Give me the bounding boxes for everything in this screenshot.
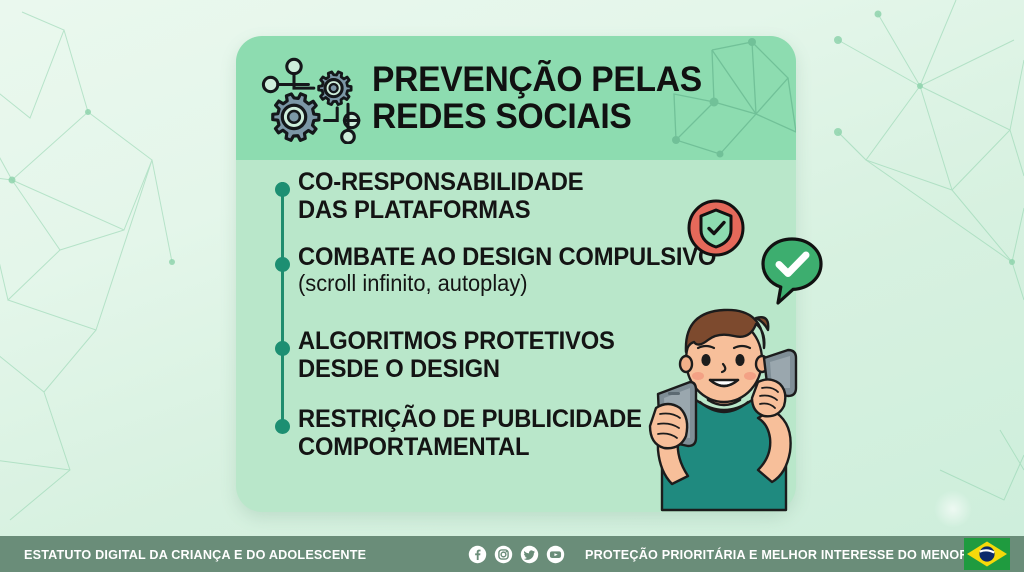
social-links	[468, 545, 565, 564]
list-item: CO-RESPONSABILIDADE DAS PLATAFORMAS	[298, 168, 583, 224]
footer-bar: ESTATUTO DIGITAL DA CRIANÇA E DO ADOLESC…	[0, 536, 1024, 572]
timeline-line	[281, 182, 284, 430]
bullet-1-line-2: DAS PLATAFORMAS	[298, 196, 530, 224]
bullet-2-subtext: (scroll infinito, autoplay)	[298, 271, 716, 297]
footer-right-text: PROTEÇÃO PRIORITÁRIA E MELHOR INTERESSE …	[585, 547, 969, 562]
card-title: PREVENÇÃO PELAS REDES SOCIAIS	[372, 61, 702, 136]
twitter-icon[interactable]	[520, 545, 539, 564]
list-item: RESTRIÇÃO DE PUBLICIDADE COMPORTAMENTAL	[298, 405, 642, 461]
timeline-dot-4	[275, 419, 290, 434]
card-header: PREVENÇÃO PELAS REDES SOCIAIS	[236, 36, 796, 160]
bullet-3-line-2: DESDE O DESIGN	[298, 355, 500, 383]
timeline-dot-1	[275, 182, 290, 197]
boy-with-two-phones-illustration	[638, 296, 810, 516]
bullet-2-line-1: COMBATE AO DESIGN COMPULSIVO	[298, 243, 716, 271]
facebook-icon[interactable]	[468, 545, 487, 564]
card-title-line-2: REDES SOCIAIS	[372, 98, 702, 135]
timeline-dot-3	[275, 341, 290, 356]
brazil-flag-icon	[964, 538, 1010, 570]
bullet-1-line-1: CO-RESPONSABILIDADE	[298, 168, 583, 196]
gears-network-icon	[258, 52, 366, 144]
bullet-4-line-1: RESTRIÇÃO DE PUBLICIDADE	[298, 405, 642, 433]
instagram-icon[interactable]	[494, 545, 513, 564]
youtube-icon[interactable]	[546, 545, 565, 564]
speech-bubble-check-badge	[760, 236, 824, 308]
timeline-dot-2	[275, 257, 290, 272]
list-item: ALGORITMOS PROTETIVOS DESDE O DESIGN	[298, 327, 615, 383]
slide-canvas: PREVENÇÃO PELAS REDES SOCIAIS	[0, 0, 1024, 572]
bullet-3-line-1: ALGORITMOS PROTETIVOS	[298, 327, 615, 355]
footer-left-text: ESTATUTO DIGITAL DA CRIANÇA E DO ADOLESC…	[24, 547, 366, 562]
card-title-line-1: PREVENÇÃO PELAS	[372, 61, 702, 98]
shield-check-badge	[686, 198, 746, 258]
list-item: COMBATE AO DESIGN COMPULSIVO (scroll inf…	[298, 243, 716, 297]
bullet-timeline	[275, 174, 289, 432]
bullet-4-line-2: COMPORTAMENTAL	[298, 433, 529, 461]
